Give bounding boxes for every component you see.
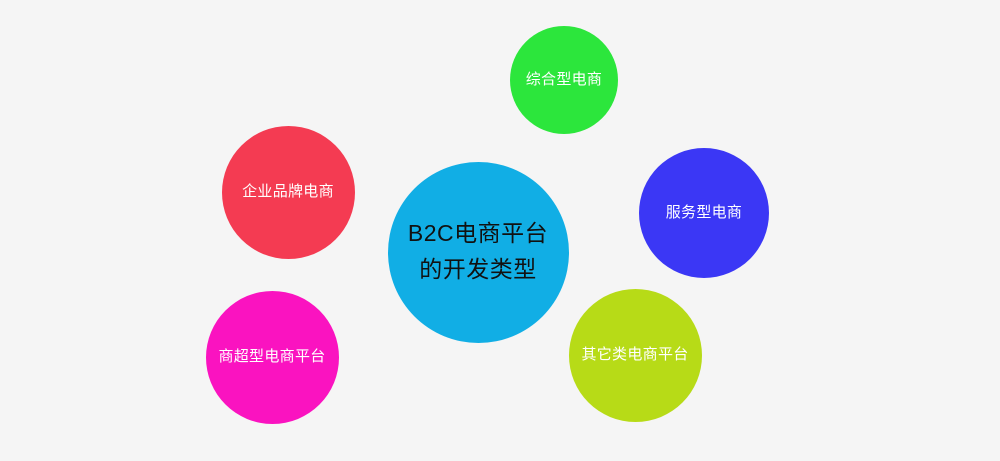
bubble-label: 综合型电商 (526, 69, 603, 91)
center-label: B2C电商平台 的开发类型 (388, 216, 569, 287)
diagram-canvas: 综合型电商 企业品牌电商 服务型电商 商超型电商平台 其它类电商平台 B2C电商… (0, 0, 1000, 461)
bubble-label: 商超型电商平台 (218, 346, 325, 368)
bubble-supermarket-ecommerce-platform[interactable]: 商超型电商平台 (206, 291, 339, 424)
bubble-label: 企业品牌电商 (242, 181, 334, 203)
bubble-label: 其它类电商平台 (581, 344, 688, 366)
bubble-comprehensive-ecommerce[interactable]: 综合型电商 (510, 26, 618, 134)
bubble-enterprise-brand-ecommerce[interactable]: 企业品牌电商 (222, 126, 355, 259)
bubble-other-ecommerce-platform[interactable]: 其它类电商平台 (569, 289, 702, 422)
bubble-b2c-platform-center[interactable]: B2C电商平台 的开发类型 (388, 162, 569, 343)
center-label-line-2: 的开发类型 (388, 252, 569, 288)
center-label-line-1: B2C电商平台 (388, 216, 569, 252)
bubble-service-ecommerce[interactable]: 服务型电商 (639, 148, 769, 278)
bubble-label: 服务型电商 (666, 202, 743, 224)
